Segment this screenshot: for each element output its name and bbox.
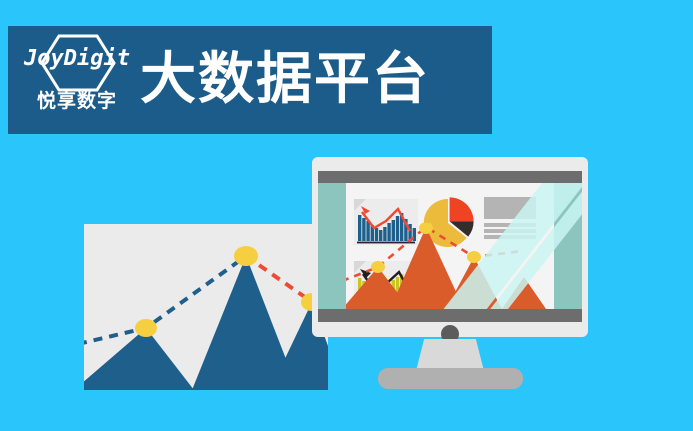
monitor-stand-neck <box>416 339 484 371</box>
monitor <box>312 157 588 337</box>
data-marker <box>234 246 258 266</box>
pie-slice-red <box>450 197 474 221</box>
poster-canvas: JoyDigit 悦享数字 大数据平台 <box>0 0 693 431</box>
data-marker <box>371 261 385 273</box>
data-marker <box>135 319 157 337</box>
brand-logo-subtitle: 悦享数字 <box>18 90 136 114</box>
monitor-bezel-top <box>318 171 582 183</box>
monitor-stand-base <box>378 368 523 389</box>
data-marker <box>467 251 481 263</box>
screen-band-left <box>318 183 346 309</box>
brand-logo[interactable]: JoyDigit 悦享数字 <box>18 32 136 128</box>
left-mountain-chart-svg <box>84 224 328 390</box>
page-title: 大数据平台 <box>140 48 430 110</box>
monitor-screen <box>318 183 582 309</box>
header-banner: JoyDigit 悦享数字 大数据平台 <box>8 26 492 134</box>
left-chart-panel <box>84 224 328 390</box>
monitor-bezel-bottom <box>318 309 582 322</box>
brand-logo-name: JoyDigit <box>18 44 136 74</box>
